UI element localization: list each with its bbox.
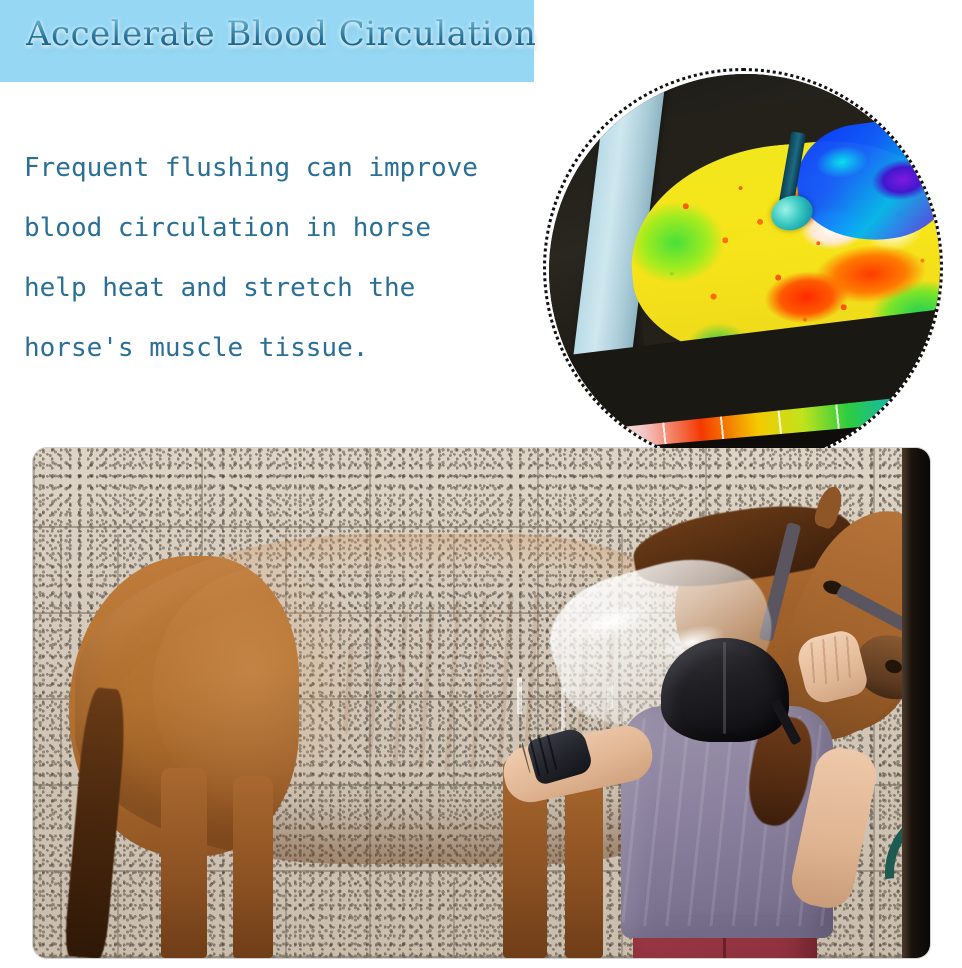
thermal-image-clip — [549, 74, 943, 468]
main-photo — [33, 448, 930, 958]
title-banner-inner: Accelerate Blood Circulation Accelerate … — [0, 0, 534, 82]
body-paragraph: Frequent flushing can improve blood circ… — [24, 138, 544, 378]
horse-hind-leg-left — [161, 768, 207, 958]
page-title: Accelerate Blood Circulation — [26, 14, 536, 54]
riding-helmet-seam — [723, 642, 726, 734]
stall-doorway-edge — [902, 448, 930, 958]
title-banner: Accelerate Blood Circulation Accelerate … — [0, 0, 534, 82]
horse-hind-leg-right — [233, 776, 273, 958]
thermal-image-circle — [543, 68, 943, 468]
infographic-page: Accelerate Blood Circulation Accelerate … — [0, 0, 962, 968]
